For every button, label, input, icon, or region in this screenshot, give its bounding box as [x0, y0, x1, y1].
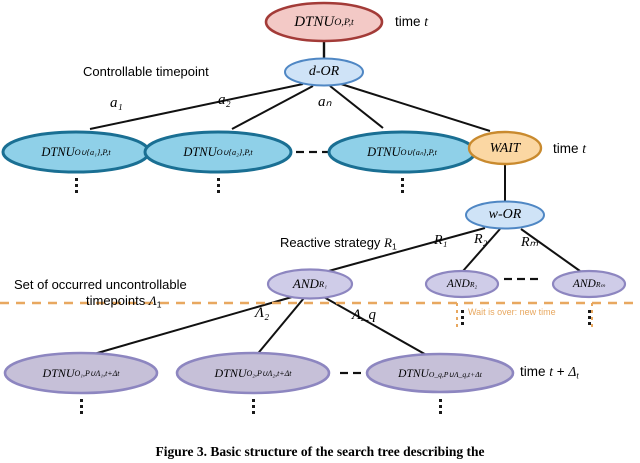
node-wait[interactable] [469, 132, 541, 164]
node-d-or[interactable] [285, 59, 363, 86]
annotation-reactive-strategy: Reactive strategy R1 [280, 235, 397, 251]
annotation-occurred-timepoints-line2: timepoints Λ1 [86, 293, 162, 309]
vdots-under-dtnu-an [401, 178, 404, 193]
vdots-under-dtnu-oq [439, 399, 442, 414]
node-and-r1[interactable] [268, 270, 352, 299]
node-dtnu-an[interactable] [329, 132, 475, 172]
edge-label-lambda2: Λ₂ [255, 305, 269, 322]
node-and-rm[interactable] [553, 271, 625, 297]
edge-label-a1: a₁ [110, 95, 123, 112]
edge-label-a2: a₂ [218, 92, 231, 109]
node-w-or[interactable] [466, 202, 544, 229]
edge-label-r1: R₁ [434, 233, 447, 249]
vdots-under-dtnu-o2 [252, 399, 255, 414]
node-dtnu-oq[interactable] [367, 354, 513, 392]
figure-caption: Figure 3. Basic structure of the search … [0, 444, 640, 460]
edge-label-rm: Rₘ [521, 234, 538, 251]
annotation-controllable-timepoint: Controllable timepoint [83, 64, 209, 79]
node-dtnu-o2[interactable] [177, 353, 329, 393]
edge-dor-an [330, 86, 383, 128]
edge-label-r2: R₂ [474, 232, 487, 248]
node-root-dtnu[interactable] [266, 3, 382, 41]
annotation-occurred-timepoints-line1: Set of occurred uncontrollable [14, 277, 187, 292]
annotation-time-t-delta: time t + Δt [520, 364, 579, 380]
vdots-under-and-r2 [461, 310, 464, 325]
edge-label-lambdaq: Λ_q [352, 307, 376, 324]
edge-dor-a2 [232, 86, 313, 129]
vdots-under-dtnu-a2 [217, 178, 220, 193]
node-and-r2[interactable] [426, 271, 498, 297]
node-dtnu-a1[interactable] [3, 132, 149, 172]
annotation-time-t-top: time t [395, 14, 428, 30]
vdots-under-and-rm [588, 310, 591, 325]
node-dtnu-a2[interactable] [145, 132, 291, 172]
edge-label-an: aₙ [318, 92, 331, 111]
vdots-under-dtnu-o1 [80, 399, 83, 414]
edge-andr1-oq [322, 296, 430, 357]
vdots-under-dtnu-a1 [75, 178, 78, 193]
edge-dor-wait [341, 84, 490, 131]
node-dtnu-o1[interactable] [5, 353, 157, 393]
figure-canvas: DTNUO,P,t d-OR DTNUO∪{a₁},P,t DTNUO∪{a₂}… [0, 0, 640, 463]
annotation-time-t-wait: time t [553, 141, 586, 157]
annotation-wait-is-over: Wait is over: new time [468, 307, 556, 317]
